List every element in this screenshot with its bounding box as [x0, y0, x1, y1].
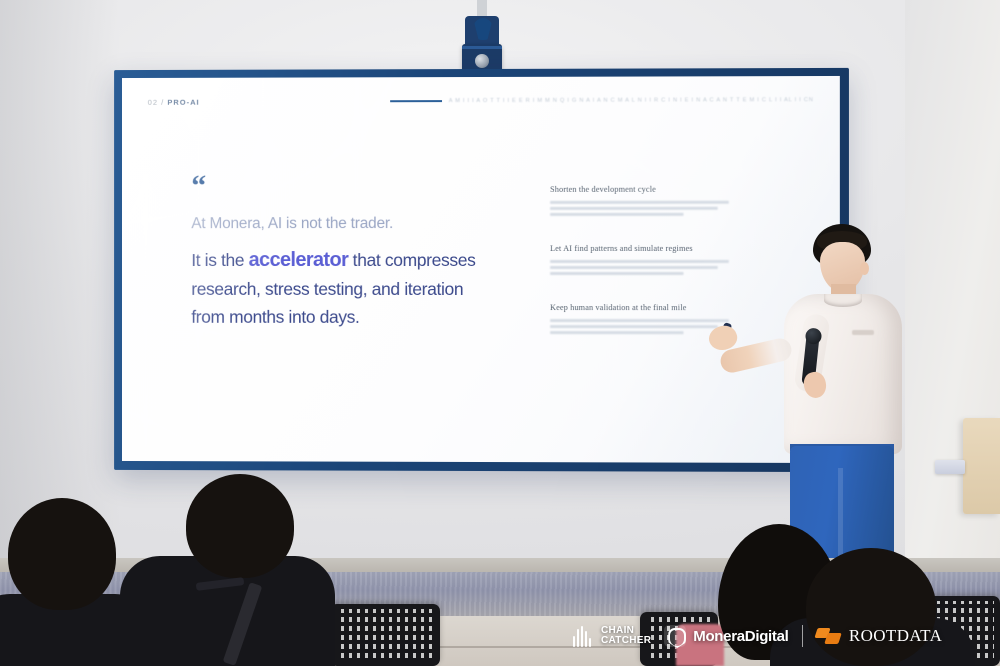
- mount-strip: [462, 46, 502, 49]
- logo-divider: [802, 625, 803, 647]
- chair-back: [330, 604, 440, 666]
- chaincatcher-wordmark: CHAIN CATCHER: [601, 626, 651, 646]
- slide-kicker: 02 / PRO-AI: [148, 97, 200, 106]
- orange-blocks-icon: [816, 627, 842, 645]
- kicker-separator: /: [161, 97, 164, 106]
- presentation-photo: 02 / PRO-AI A M I I I A O T T I I E E R …: [0, 0, 1000, 666]
- bullet-block: Shorten the development cycle: [550, 185, 736, 216]
- quote-accent-word: accelerator: [249, 249, 349, 271]
- quote-lead-line: At Monera, AI is not the trader.: [191, 215, 490, 233]
- bullet-heading: Shorten the development cycle: [550, 185, 736, 194]
- slide-header-right: A M I I I A O T T I I E E R I M M N Q I …: [390, 97, 814, 104]
- chaincatcher-line2: CATCHER: [601, 636, 651, 646]
- speaker-ear: [860, 262, 869, 275]
- slide-header: 02 / PRO-AI A M I I I A O T T I I E E R …: [148, 93, 814, 109]
- slide-quote-column: “ At Monera, AI is not the trader. It is…: [191, 177, 490, 331]
- quote-body: It is the accelerator that compresses re…: [191, 245, 490, 331]
- sponsor-logo-bar: CHAIN CATCHER MoneraDigital ROOTDATA: [573, 620, 942, 652]
- audience-member-head: [8, 498, 116, 610]
- camera-lens-icon: [475, 54, 489, 68]
- projector-camera-mount-icon: [461, 0, 503, 78]
- section-label: PRO-AI: [167, 97, 199, 106]
- audience-member-head: [186, 474, 294, 578]
- logo-chaincatcher: CHAIN CATCHER: [573, 626, 651, 647]
- speaker-collar: [824, 294, 862, 307]
- waveform-bars-icon: [573, 626, 594, 647]
- tshirt-logo: [852, 330, 874, 335]
- quote-body-prefix: It is the: [191, 250, 248, 270]
- bullet-text-line: [550, 266, 717, 269]
- shield-fingerprint-icon: [664, 625, 686, 647]
- rootdata-wordmark: ROOTDATA: [849, 626, 942, 646]
- bullet-text-line: [550, 201, 728, 204]
- logo-moneradigital: MoneraDigital: [664, 625, 788, 647]
- logo-rootdata: ROOTDATA: [816, 626, 942, 646]
- section-number: 02: [148, 97, 158, 106]
- quote-mark-icon: “: [191, 177, 490, 195]
- bullet-text-line: [550, 213, 684, 216]
- bullet-text-line: [550, 207, 717, 210]
- bullet-text-line: [550, 331, 684, 334]
- moneradigital-wordmark: MoneraDigital: [693, 628, 788, 645]
- header-meta-text: A M I I I A O T T I I E E R I M M N Q I …: [449, 97, 814, 104]
- bullet-text-line: [550, 325, 717, 328]
- bullet-text-line: [550, 272, 684, 275]
- header-rule: [390, 100, 442, 102]
